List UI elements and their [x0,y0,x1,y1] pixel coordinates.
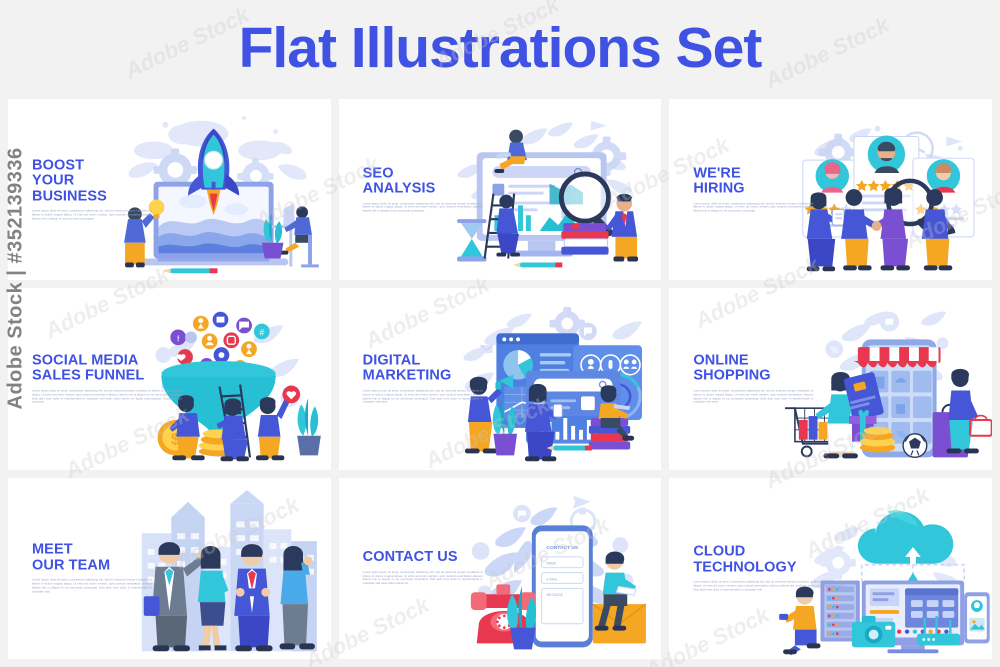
phone-form-heading: CONTACT US [546,545,579,551]
svg-text:%: % [831,345,839,355]
card-text-block: WE'RE HIRING Lorem ipsum dolor sit amet,… [693,166,813,213]
card-title: MEET OUR TEAM [32,543,152,574]
card-digital-marketing[interactable]: DIGITAL MARKETING Lorem ipsum dolor sit … [339,288,662,469]
card-body: Lorem ipsum dolor sit amet, consectetur … [693,581,843,592]
card-title: CONTACT US [363,550,483,566]
card-body: Lorem ipsum dolor sit amet, consectetur … [693,389,813,404]
card-social-media-sales-funnel[interactable]: f # [8,288,331,469]
card-text-block: CLOUD TECHNOLOGY Lorem ipsum dolor sit a… [693,545,843,592]
card-text-block: CONTACT US Lorem ipsum dolor sit amet, c… [363,550,483,586]
card-body: Lorem ipsum dolor sit amet, consectetur … [363,389,483,404]
card-seo-analysis[interactable]: SEO ANALYSIS Lorem ipsum dolor sit amet,… [339,99,662,280]
card-text-block: ONLINE SHOPPING Lorem ipsum dolor sit am… [693,353,813,404]
card-contact-us[interactable]: CONTACT US NAME E-MAIL MESSAGE [339,478,662,659]
card-title: SOCIAL MEDIA SALES FUNNEL [32,353,182,384]
card-meet-our-team[interactable]: MEET OUR TEAM Lorem ipsum dolor sit amet… [8,478,331,659]
svg-text:#: # [259,328,264,338]
svg-text:%: % [898,430,906,440]
card-body: Lorem ipsum dolor sit amet, consectetur … [32,389,182,404]
card-title: CLOUD TECHNOLOGY [693,545,843,576]
card-text-block: SEO ANALYSIS Lorem ipsum dolor sit amet,… [363,166,483,213]
card-title: BOOST YOUR BUSINESS [32,158,152,205]
card-body: Lorem ipsum dolor sit amet, consectetur … [363,202,483,213]
card-cloud-technology[interactable]: CLOUD TECHNOLOGY Lorem ipsum dolor sit a… [669,478,992,659]
card-boost-your-business[interactable]: BOOST YOUR BUSINESS Lorem ipsum dolor si… [8,99,331,280]
card-title: SEO ANALYSIS [363,166,483,197]
card-text-block: SOCIAL MEDIA SALES FUNNEL Lorem ipsum do… [32,353,182,404]
phone-form-field-message: MESSAGE [546,593,563,597]
card-title: WE'RE HIRING [693,166,813,197]
phone-form-field-name: NAME [546,561,556,565]
card-text-block: MEET OUR TEAM Lorem ipsum dolor sit amet… [32,543,152,594]
card-body: Lorem ipsum dolor sit amet, consectetur … [693,202,813,213]
illustration-grid: BOOST YOUR BUSINESS Lorem ipsum dolor si… [8,99,992,659]
card-body: Lorem ipsum dolor sit amet, consectetur … [32,210,152,221]
card-text-block: BOOST YOUR BUSINESS Lorem ipsum dolor si… [32,158,152,221]
card-body: Lorem ipsum dolor sit amet, consectetur … [363,571,483,586]
card-online-shopping[interactable]: % [669,288,992,469]
phone-form-field-email: E-MAIL [546,577,557,581]
card-body: Lorem ipsum dolor sit amet, consectetur … [32,579,152,594]
card-were-hiring[interactable]: WE'RE HIRING Lorem ipsum dolor sit amet,… [669,99,992,280]
page-title: Flat Illustrations Set [0,12,1000,84]
card-title: DIGITAL MARKETING [363,353,483,384]
card-text-block: DIGITAL MARKETING Lorem ipsum dolor sit … [363,353,483,404]
card-title: ONLINE SHOPPING [693,353,813,384]
